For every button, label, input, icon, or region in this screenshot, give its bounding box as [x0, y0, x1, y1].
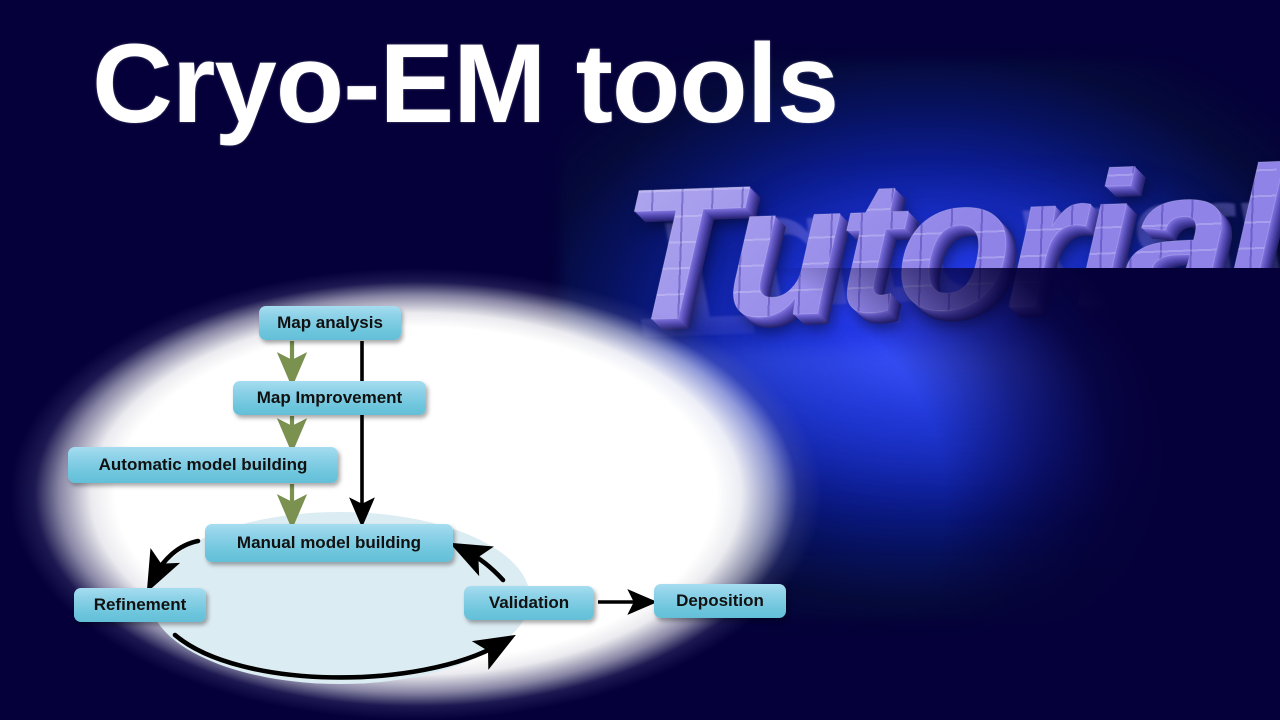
node-map-improvement-label: Map Improvement — [257, 388, 402, 408]
edge-manual-model-building-to-refinement — [155, 541, 198, 576]
node-map-analysis-label: Map analysis — [277, 313, 383, 333]
node-automatic-model-building-label: Automatic model building — [99, 455, 308, 475]
node-automatic-model-building[interactable]: Automatic model building — [68, 447, 338, 483]
edge-refinement-to-validation — [175, 635, 500, 677]
node-deposition-label: Deposition — [676, 591, 764, 611]
node-validation-label: Validation — [489, 593, 569, 613]
node-refinement[interactable]: Refinement — [74, 588, 206, 622]
node-map-analysis[interactable]: Map analysis — [259, 306, 401, 340]
edge-validation-to-manual-model-building — [466, 551, 503, 580]
node-manual-model-building[interactable]: Manual model building — [205, 524, 453, 562]
slide-canvas: Tutorial Tutorial Tutorial Cryo-EM tools — [0, 0, 1280, 720]
node-manual-model-building-label: Manual model building — [237, 533, 421, 553]
node-validation[interactable]: Validation — [464, 586, 594, 620]
node-map-improvement[interactable]: Map Improvement — [233, 381, 426, 415]
node-refinement-label: Refinement — [94, 595, 187, 615]
workflow-diagram: Map analysis Map Improvement Automatic m… — [0, 0, 1280, 720]
node-deposition[interactable]: Deposition — [654, 584, 786, 618]
